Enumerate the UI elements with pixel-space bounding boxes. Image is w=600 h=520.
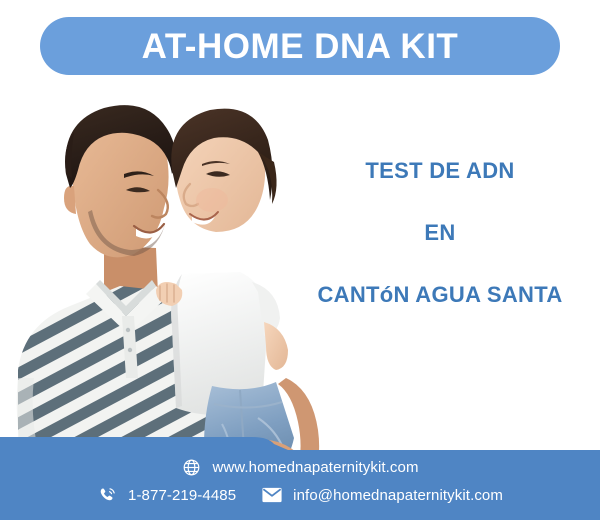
footer-phone-item[interactable]: 1-877-219-4485 — [97, 485, 236, 505]
header-title: AT-HOME DNA KIT — [142, 29, 459, 64]
footer-contact-row: 1-877-219-4485 info@homednapaternitykit.… — [0, 485, 600, 505]
phone-icon — [97, 485, 117, 505]
footer-content: www.homednapaternitykit.com 1-877-219-44… — [0, 430, 600, 520]
hero-photo — [0, 78, 335, 478]
father-and-child-photo — [0, 78, 335, 478]
headline-line-1: TEST DE ADN — [290, 160, 590, 182]
envelope-icon — [262, 485, 282, 505]
headline-line-2: EN — [290, 222, 590, 244]
phone-label: 1-877-219-4485 — [128, 488, 236, 503]
email-label: info@homednapaternitykit.com — [293, 488, 503, 503]
footer-contact-bar: www.homednapaternitykit.com 1-877-219-44… — [0, 430, 600, 520]
footer-website-row: www.homednapaternitykit.com — [0, 457, 600, 477]
promo-banner: AT-HOME DNA KIT — [0, 0, 600, 520]
headline-block: TEST DE ADN EN CANTóN AGUA SANTA — [290, 160, 590, 306]
globe-icon — [181, 457, 201, 477]
footer-email-item[interactable]: info@homednapaternitykit.com — [262, 485, 503, 505]
footer-website-item[interactable]: www.homednapaternitykit.com — [181, 457, 418, 477]
header-pill: AT-HOME DNA KIT — [40, 17, 560, 75]
headline-line-3: CANTóN AGUA SANTA — [290, 284, 590, 306]
website-label: www.homednapaternitykit.com — [212, 460, 418, 475]
